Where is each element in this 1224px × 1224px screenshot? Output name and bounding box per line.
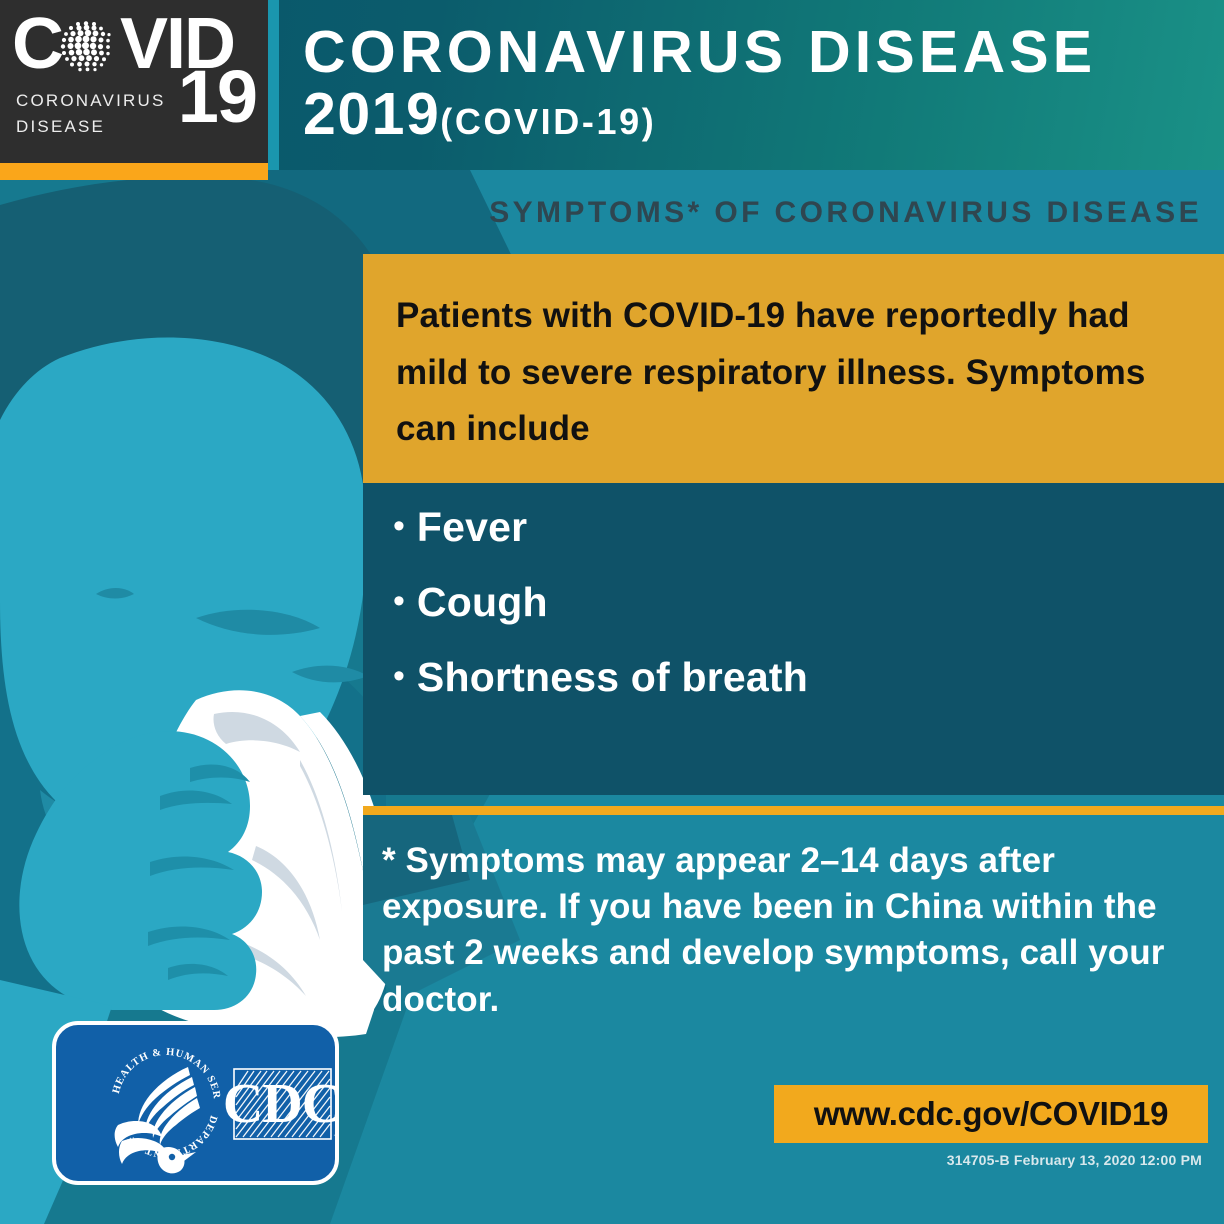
agency-logo-lockup: HEALTH & HUMAN SERVICES·USA DEPARTMENT O… bbox=[52, 1021, 339, 1185]
divider bbox=[363, 806, 1224, 815]
list-item: • Cough bbox=[393, 582, 808, 623]
logo-year-19: 19 bbox=[178, 62, 256, 132]
bullet-icon: • bbox=[393, 584, 405, 618]
covid19-logo: C VID CORONAVIRUS DISEASE 19 bbox=[0, 0, 268, 163]
page-title-year: 2019 bbox=[303, 81, 440, 147]
lead-statement-box: Patients with COVID-19 have reportedly h… bbox=[363, 254, 1224, 483]
logo-subtitle-line1: CORONAVIRUS bbox=[16, 88, 166, 114]
logo-orange-strip bbox=[0, 163, 268, 180]
symptom-list: • Fever • Cough • Shortness of breath bbox=[393, 507, 808, 732]
footnote-text: * Symptoms may appear 2–14 days after ex… bbox=[382, 838, 1172, 1023]
cdc-url-button[interactable]: www.cdc.gov/COVID19 bbox=[774, 1085, 1208, 1143]
symptom-label: Shortness of breath bbox=[417, 657, 808, 698]
bullet-icon: • bbox=[393, 659, 405, 693]
svg-text:HEALTH & HUMAN SERVICES·USA: HEALTH & HUMAN SERVICES·USA bbox=[56, 1025, 222, 1100]
footnote: * Symptoms may appear 2–14 days after ex… bbox=[382, 838, 1172, 1023]
symptom-list-panel: • Fever • Cough • Shortness of breath bbox=[363, 483, 1224, 795]
hhs-seal-icon: HEALTH & HUMAN SERVICES·USA DEPARTMENT O… bbox=[56, 1025, 222, 1173]
list-item: • Fever bbox=[393, 507, 808, 548]
lead-statement-text: Patients with COVID-19 have reportedly h… bbox=[396, 288, 1180, 458]
hhs-cdc-logo-svg: HEALTH & HUMAN SERVICES·USA DEPARTMENT O… bbox=[56, 1025, 339, 1185]
logo-letter-c: C bbox=[12, 8, 64, 80]
page-title-paren: (COVID-19) bbox=[440, 101, 656, 142]
page-title: CORONAVIRUS DISEASE 2019(COVID-19) bbox=[303, 22, 1213, 147]
poster-root: C VID CORONAVIRUS DISEASE 19 CORONAVIRUS… bbox=[0, 0, 1224, 1224]
page-title-line2: 2019(COVID-19) bbox=[303, 83, 1213, 147]
symptom-label: Cough bbox=[417, 582, 548, 623]
cdc-wordmark: CDC bbox=[223, 1073, 339, 1135]
logo-subtitle: CORONAVIRUS DISEASE bbox=[16, 88, 166, 139]
virus-halftone-icon bbox=[58, 19, 114, 75]
logo-subtitle-line2: DISEASE bbox=[16, 114, 166, 140]
section-subtitle: SYMPTOMS* OF CORONAVIRUS DISEASE bbox=[489, 196, 1202, 230]
list-item: • Shortness of breath bbox=[393, 657, 808, 698]
header-accent-strip bbox=[268, 0, 279, 170]
cdc-trademark: ™ bbox=[333, 1133, 339, 1143]
symptom-label: Fever bbox=[417, 507, 527, 548]
bullet-icon: • bbox=[393, 509, 405, 543]
cdc-wordmark-block: CDC ™ bbox=[223, 1069, 339, 1143]
publication-id: 314705-B February 13, 2020 12:00 PM bbox=[947, 1152, 1202, 1168]
page-title-line1: CORONAVIRUS DISEASE bbox=[303, 22, 1213, 83]
cdc-url-label: www.cdc.gov/COVID19 bbox=[814, 1095, 1168, 1133]
